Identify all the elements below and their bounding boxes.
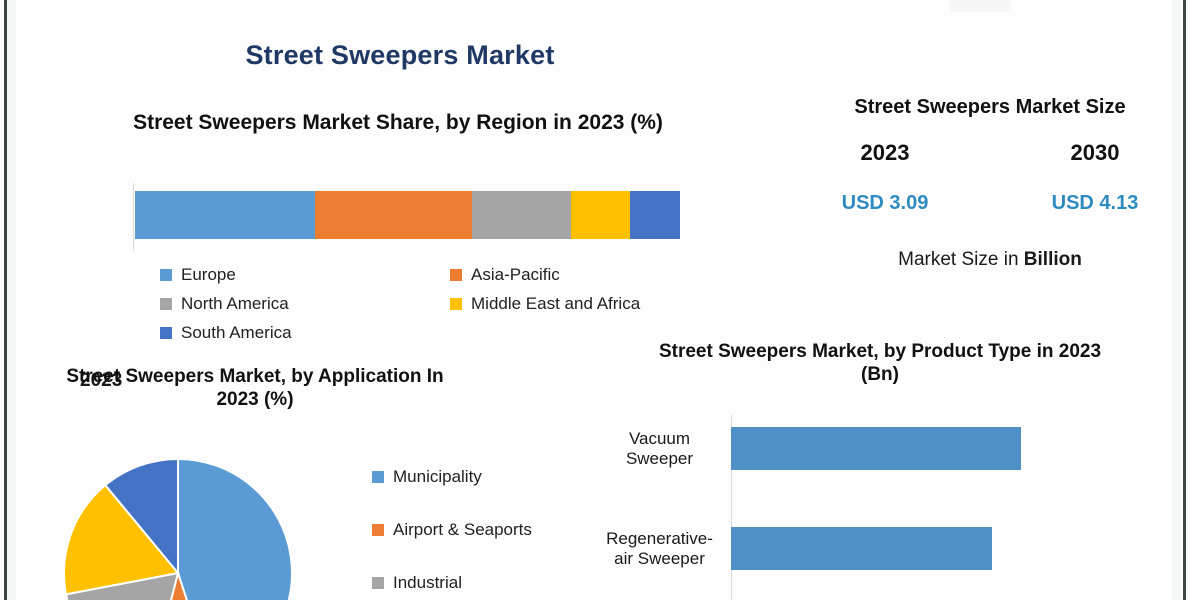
product-bar-chart: Vacuum Sweeper Regenerative-air Sweeper (600, 415, 1160, 600)
legend-item-industrial: Industrial (372, 556, 602, 600)
market-size-unit: Market Size in Billion (780, 249, 1200, 271)
product-bar-row: Regenerative-air Sweeper (600, 527, 1160, 570)
legend-swatch-europe (160, 269, 172, 281)
product-chart-title: Street Sweepers Market, by Product Type … (640, 340, 1120, 386)
left-border (4, 0, 7, 600)
region-stacked-bar-chart: 2023 (30, 178, 690, 253)
stacked-bar-segment (472, 191, 571, 239)
market-size-year-start: 2023 (780, 140, 990, 166)
application-legend: Municipality Airport & Seaports Industri… (372, 450, 602, 600)
legend-swatch-north-america (160, 298, 172, 310)
market-size-title: Street Sweepers Market Size (790, 95, 1190, 119)
legend-label-municipality: Municipality (393, 467, 482, 487)
region-plot-area (133, 183, 679, 251)
product-bar-row: Vacuum Sweeper (600, 427, 1160, 470)
market-size-value-start: USD 3.09 (780, 192, 990, 215)
legend-swatch-municipality (372, 471, 384, 483)
product-category-label: Vacuum Sweeper (600, 429, 725, 468)
legend-item-europe: Europe (160, 265, 450, 285)
legend-label-europe: Europe (181, 265, 236, 285)
legend-item-airport-seaports: Airport & Seaports (372, 503, 602, 556)
pie-slice (178, 459, 292, 600)
market-size-unit-prefix: Market Size in (898, 249, 1024, 270)
page-title: Street Sweepers Market (140, 40, 660, 71)
market-size-years: 2023 2030 (780, 140, 1200, 166)
legend-label-north-america: North America (181, 294, 289, 314)
pie-svg (63, 458, 293, 600)
legend-label-south-america: South America (181, 323, 292, 343)
market-size-value-end: USD 4.13 (990, 192, 1200, 215)
stacked-bar-segment (135, 191, 315, 239)
right-edge-tint (1172, 0, 1181, 600)
legend-swatch-middle-east-africa (450, 298, 462, 310)
stacked-bar-segment (571, 191, 630, 239)
legend-label-middle-east-africa: Middle East and Africa (471, 294, 640, 314)
legend-label-industrial: Industrial (393, 573, 462, 593)
product-bar (731, 427, 1021, 470)
legend-swatch-industrial (372, 577, 384, 589)
stacked-bar-segment (315, 191, 472, 239)
product-category-label: Regenerative-air Sweeper (600, 529, 725, 568)
region-legend: Europe Asia-Pacific North America Middle… (160, 260, 720, 347)
application-chart-title: Street Sweepers Market, by Application I… (55, 365, 455, 411)
infographic-page: Street Sweepers Market Street Sweepers M… (0, 0, 1200, 600)
legend-swatch-south-america (160, 327, 172, 339)
market-size-values: USD 3.09 USD 4.13 (780, 192, 1200, 215)
region-chart-title: Street Sweepers Market Share, by Region … (108, 110, 688, 136)
application-pie-chart (63, 458, 293, 600)
market-size-year-end: 2030 (990, 140, 1200, 166)
legend-item-municipality: Municipality (372, 450, 602, 503)
legend-label-airport-seaports: Airport & Seaports (393, 520, 532, 540)
market-size-unit-bold: Billion (1024, 249, 1082, 270)
cropped-top-element (950, 0, 1010, 12)
legend-label-asia-pacific: Asia-Pacific (471, 265, 560, 285)
legend-item-middle-east-africa: Middle East and Africa (450, 294, 640, 314)
left-edge-tint (7, 0, 16, 600)
legend-item-asia-pacific: Asia-Pacific (450, 265, 560, 285)
stacked-bar-segment (630, 191, 680, 239)
stacked-bar (135, 191, 680, 239)
product-bar (731, 527, 992, 570)
legend-item-north-america: North America (160, 294, 450, 314)
legend-swatch-airport-seaports (372, 524, 384, 536)
legend-swatch-asia-pacific (450, 269, 462, 281)
right-border (1183, 0, 1186, 600)
legend-item-south-america: South America (160, 323, 450, 343)
market-size-block: 2023 2030 USD 3.09 USD 4.13 Market Size … (780, 140, 1200, 271)
